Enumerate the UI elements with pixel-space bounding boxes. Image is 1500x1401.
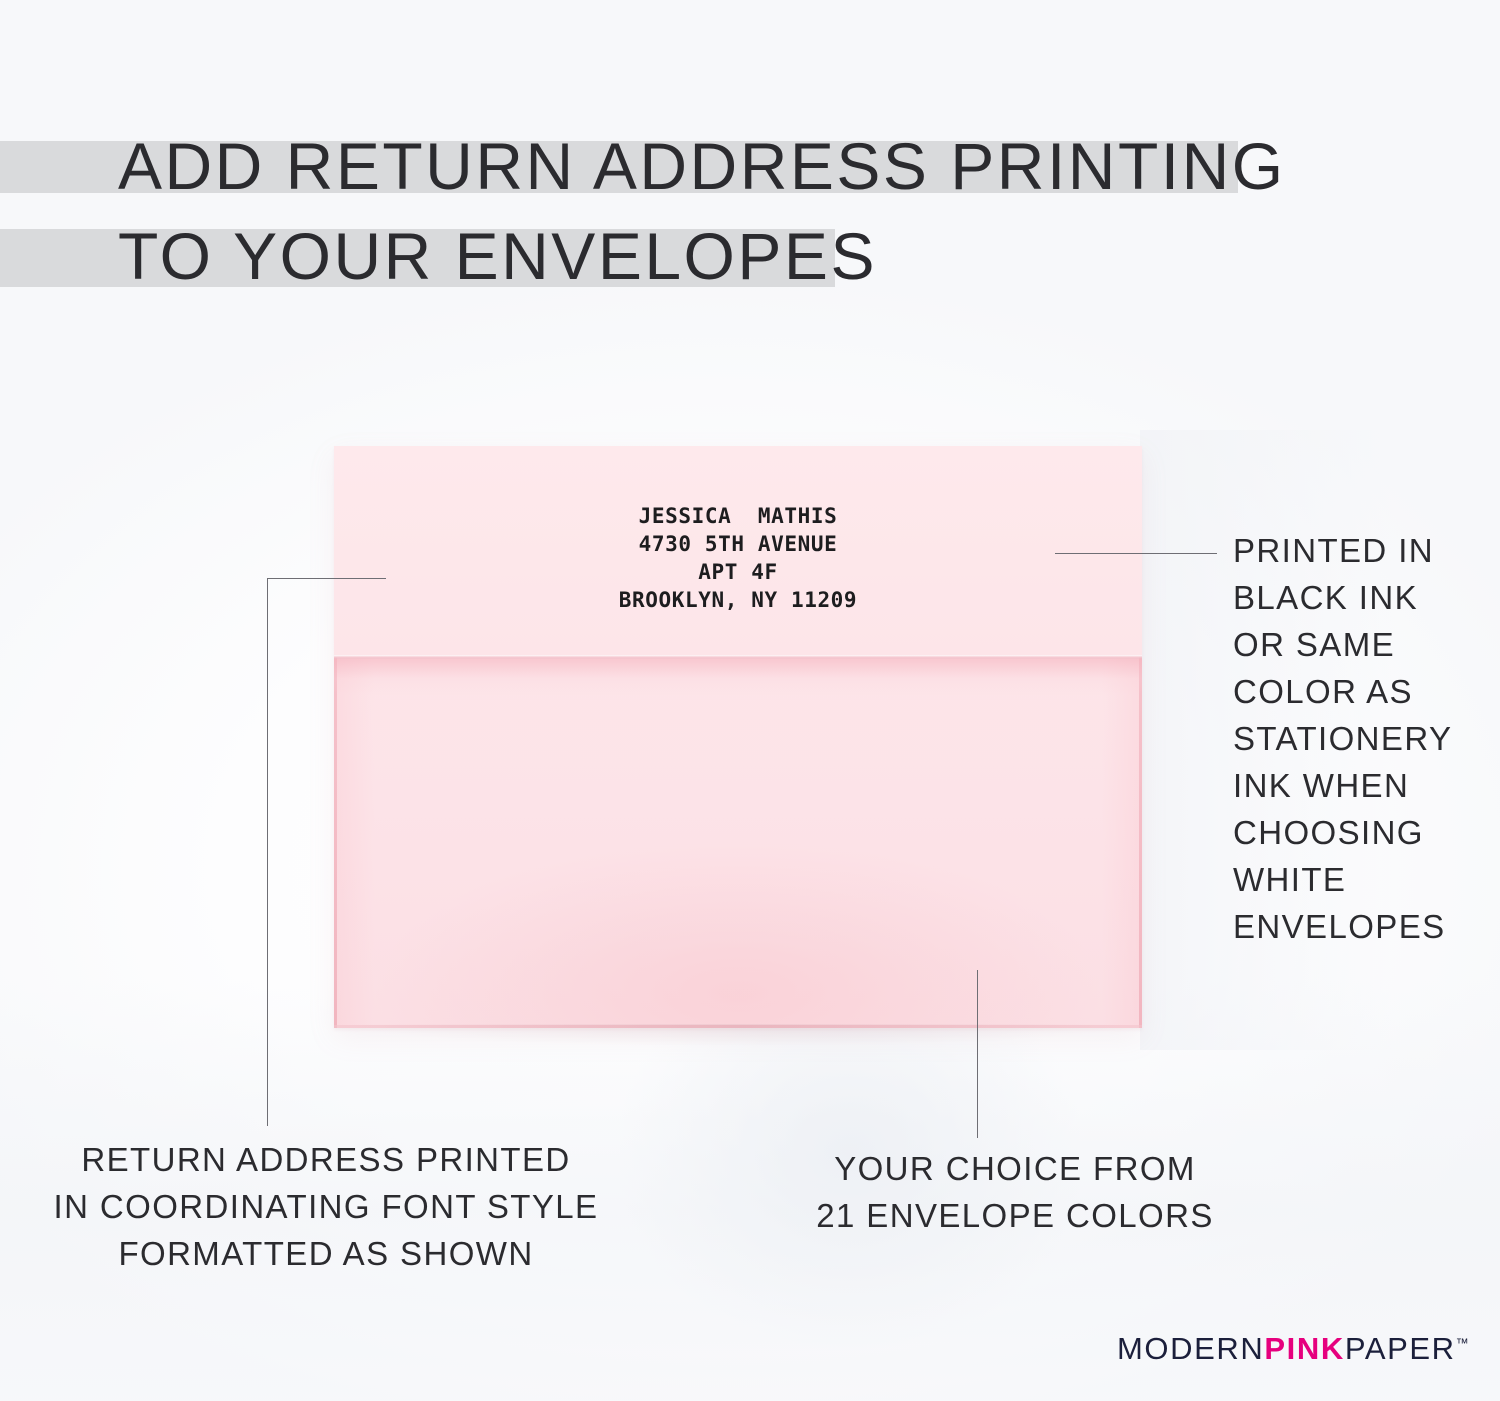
callout-right-line-8: WHITE — [1233, 856, 1483, 903]
trademark-symbol: ™ — [1456, 1336, 1469, 1351]
callout-bottom-left-line-1: RETURN ADDRESS PRINTED — [36, 1136, 616, 1183]
brand-logo: MODERNPINKPAPER™ — [1117, 1331, 1469, 1367]
leader-line-center-vertical — [977, 970, 978, 1138]
callout-right-line-3: OR SAME — [1233, 621, 1483, 668]
logo-word-pink: PINK — [1264, 1331, 1344, 1366]
callout-printed-ink: PRINTED IN BLACK INK OR SAME COLOR AS ST… — [1233, 527, 1483, 950]
title-line-1: ADD RETURN ADDRESS PRINTING — [118, 122, 1286, 210]
leader-line-left-vertical — [267, 578, 268, 1126]
callout-right-line-6: INK WHEN — [1233, 762, 1483, 809]
return-address-line-city: BROOKLYN, NY 11209 — [334, 586, 1142, 614]
callout-right-line-7: CHOOSING — [1233, 809, 1483, 856]
callout-right-line-4: COLOR AS — [1233, 668, 1483, 715]
callout-right-line-1: PRINTED IN — [1233, 527, 1483, 574]
envelope-illustration: JESSICA MATHIS 4730 5TH AVENUE APT 4F BR… — [334, 446, 1142, 1028]
envelope-flap-shadow — [334, 659, 1142, 695]
callout-envelope-colors: YOUR CHOICE FROM 21 ENVELOPE COLORS — [790, 1145, 1240, 1239]
return-address-line-street: 4730 5TH AVENUE — [334, 530, 1142, 558]
callout-bottom-center-line-2: 21 ENVELOPE COLORS — [790, 1192, 1240, 1239]
leader-line-left-horizontal — [267, 578, 386, 579]
title-line-1-row: ADD RETURN ADDRESS PRINTING — [0, 130, 1400, 218]
callout-right-line-9: ENVELOPES — [1233, 903, 1483, 950]
return-address-line-unit: APT 4F — [334, 558, 1142, 586]
title-line-2: TO YOUR ENVELOPES — [118, 212, 877, 300]
callout-return-address-style: RETURN ADDRESS PRINTED IN COORDINATING F… — [36, 1136, 616, 1277]
leader-line-right — [1055, 553, 1217, 554]
callout-right-line-2: BLACK INK — [1233, 574, 1483, 621]
callout-bottom-left-line-3: FORMATTED AS SHOWN — [36, 1230, 616, 1277]
return-address-line-name: JESSICA MATHIS — [334, 502, 1142, 530]
logo-word-modern: MODERN — [1117, 1331, 1264, 1366]
envelope-drop-shadow — [352, 1024, 1124, 1046]
callout-right-line-5: STATIONERY — [1233, 715, 1483, 762]
callout-bottom-center-line-1: YOUR CHOICE FROM — [790, 1145, 1240, 1192]
title-line-2-row: TO YOUR ENVELOPES — [0, 218, 1400, 306]
page-title: ADD RETURN ADDRESS PRINTING TO YOUR ENVE… — [0, 130, 1400, 306]
callout-bottom-left-line-2: IN COORDINATING FONT STYLE — [36, 1183, 616, 1230]
return-address-block: JESSICA MATHIS 4730 5TH AVENUE APT 4F BR… — [334, 502, 1142, 614]
marketing-infographic: ADD RETURN ADDRESS PRINTING TO YOUR ENVE… — [0, 0, 1500, 1401]
logo-word-paper: PAPER — [1345, 1331, 1456, 1366]
